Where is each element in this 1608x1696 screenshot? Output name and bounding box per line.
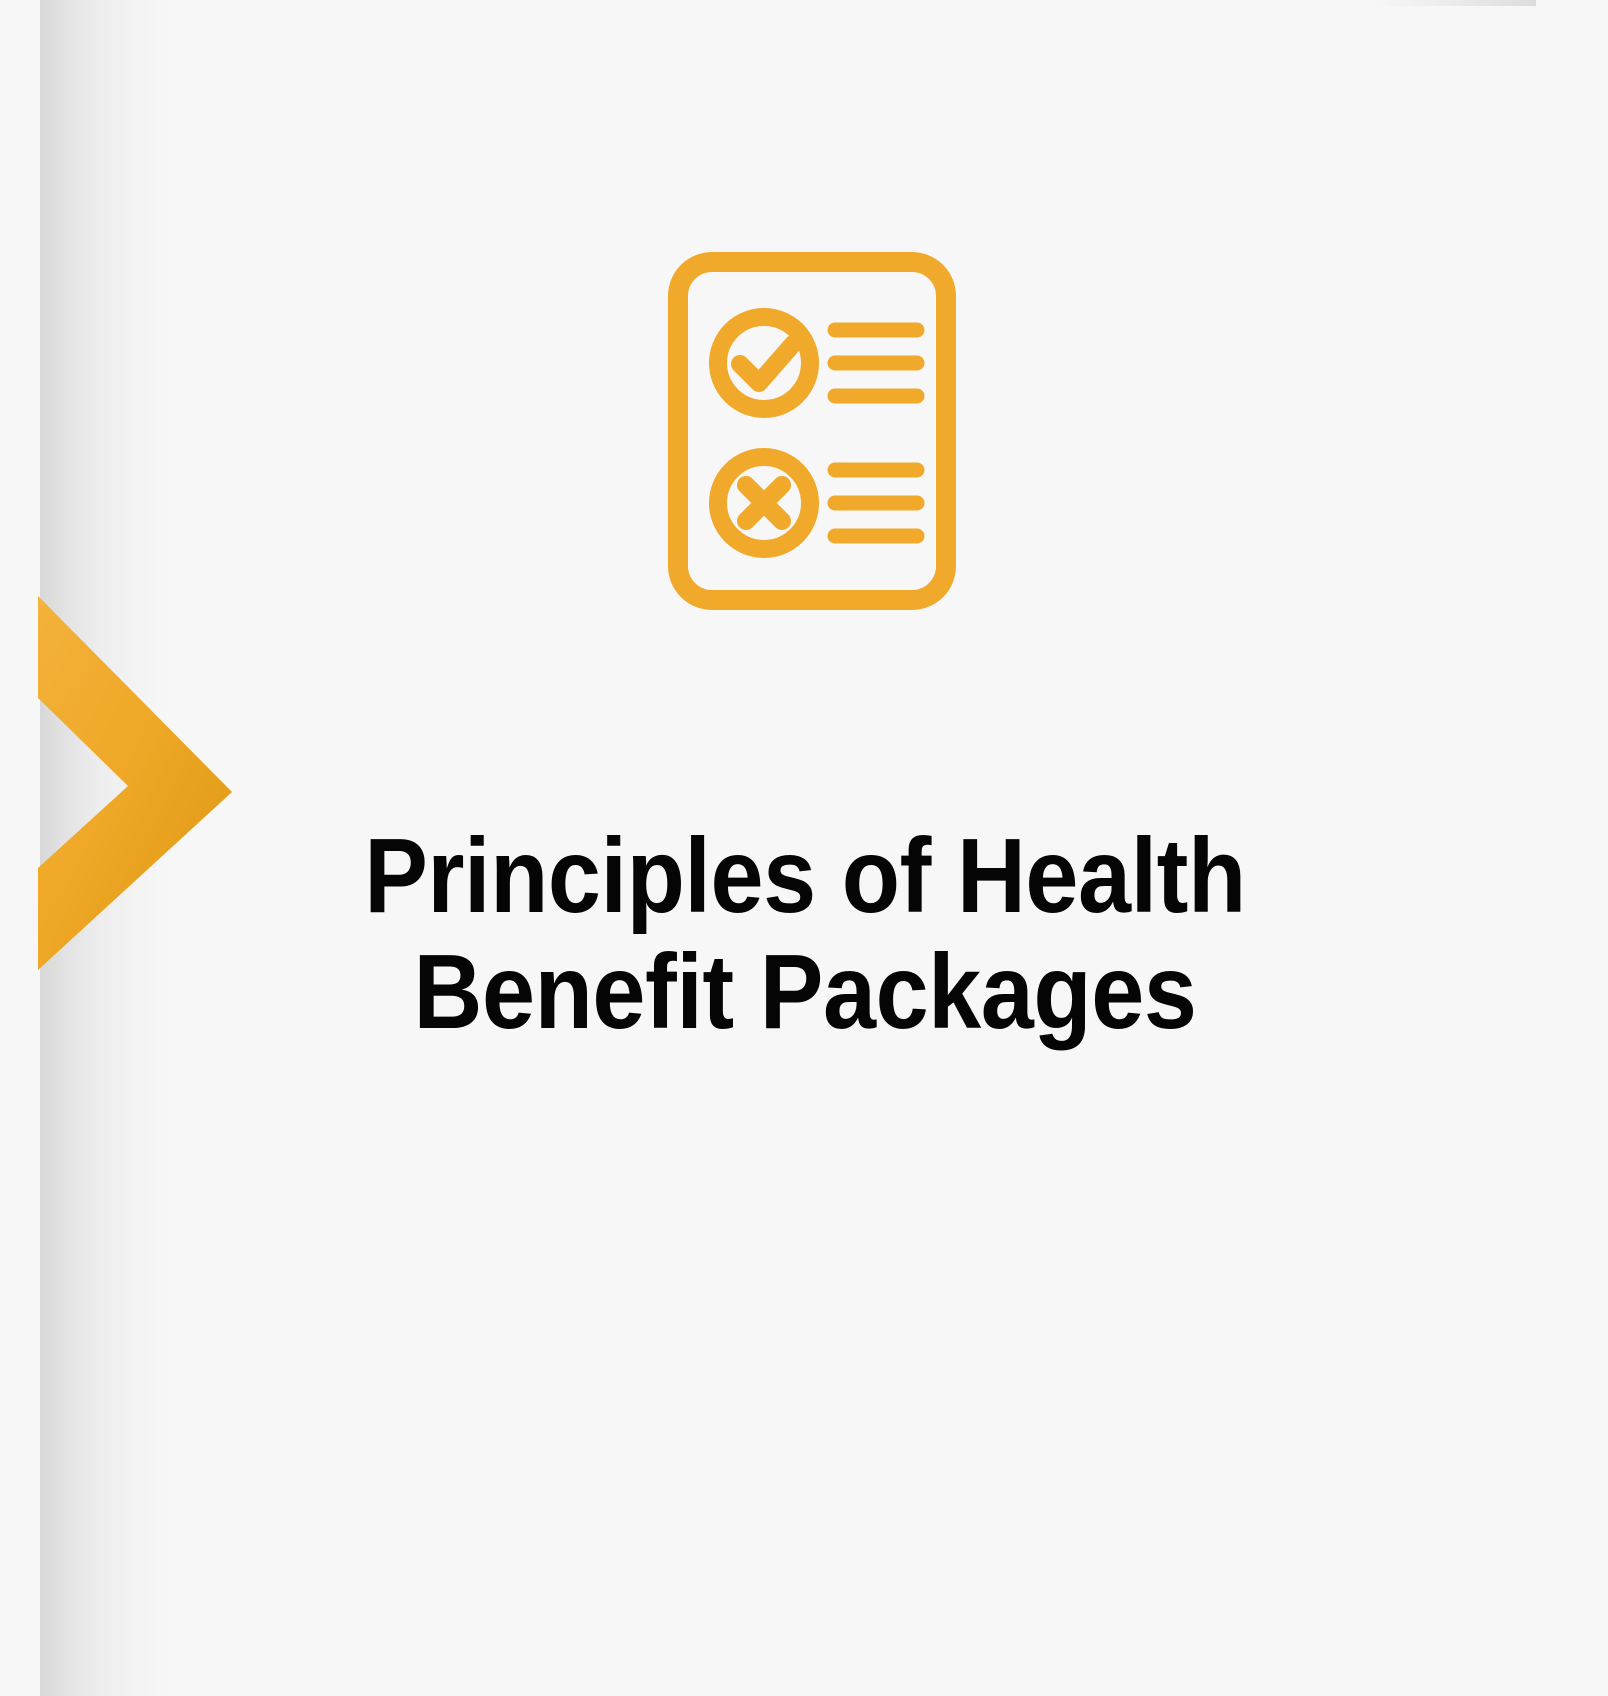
top-highlight-strip (1376, 0, 1536, 6)
check-mark-icon (740, 344, 793, 383)
page-title: Principles of Health Benefit Packages (300, 818, 1310, 1050)
slide-canvas: Principles of Health Benefit Packages (0, 0, 1608, 1696)
document-outline (678, 262, 946, 600)
page-title-text: Principles of Health Benefit Packages (351, 818, 1260, 1050)
checklist-document-icon (664, 250, 960, 612)
cross-mark-icon (746, 485, 782, 521)
chevron-right-icon (0, 596, 232, 970)
